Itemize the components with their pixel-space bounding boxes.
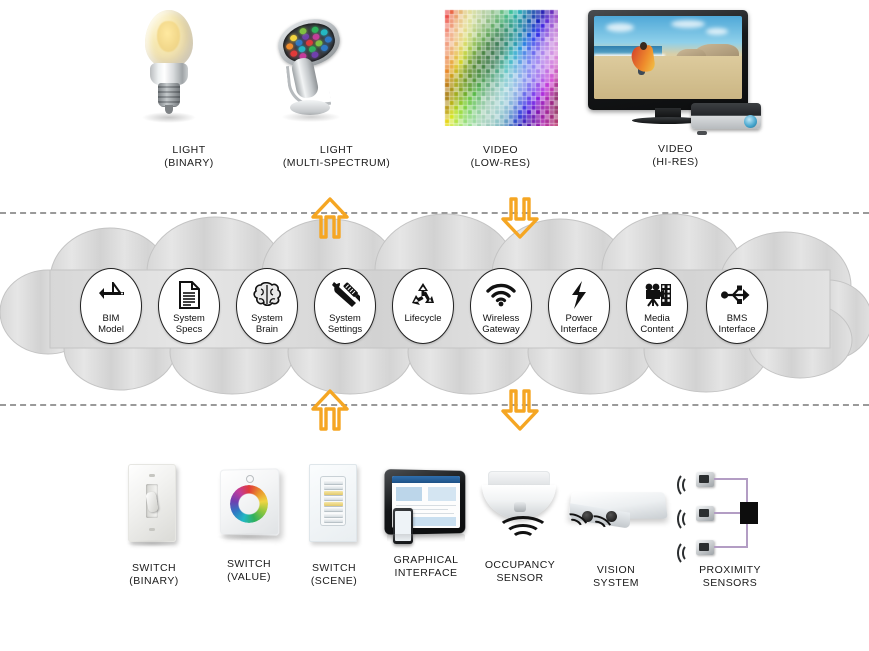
caption-line-1: OCCUPANCY bbox=[485, 559, 555, 571]
device-caption: LIGHT (BINARY) bbox=[134, 144, 244, 170]
device-light-binary[interactable]: LIGHT (BINARY) bbox=[134, 8, 244, 170]
projector-icon bbox=[691, 99, 763, 135]
occupancy-sensor-icon bbox=[472, 465, 568, 553]
cloud-node-label-line-1: Wireless bbox=[482, 314, 520, 325]
cloud-node-label-line-2: Interface bbox=[561, 325, 598, 336]
scene-keypad-icon bbox=[306, 462, 362, 546]
arrow-up-icon-bottom[interactable] bbox=[310, 388, 350, 437]
caption-line-2: (BINARY) bbox=[134, 157, 244, 170]
caption-line-2: (SCENE) bbox=[306, 575, 362, 588]
device-proximity-sensors[interactable]: PROXIMITY SENSORS bbox=[672, 466, 788, 590]
device-light-multi-spectrum[interactable]: LIGHT (MULTI-SPECTRUM) bbox=[264, 8, 409, 170]
device-caption: VIDEO (LOW-RES) bbox=[443, 144, 558, 170]
cloud-band: BIMModelSystemSpecsSystemBrainSystemSett… bbox=[0, 200, 869, 415]
cloud-node-label-line-2: Gateway bbox=[482, 325, 520, 336]
device-caption: OCCUPANCY SENSOR bbox=[472, 559, 568, 585]
cloud-node-label-line-1: System bbox=[251, 314, 283, 325]
cloud-node-label: BMSInterface bbox=[719, 314, 756, 335]
caption-line-1: PROXIMITY bbox=[699, 564, 761, 576]
cloud-node-label-line-2: Brain bbox=[251, 325, 283, 336]
cloud-node-label-line-1: BMS bbox=[719, 314, 756, 325]
arrow-up-icon-top[interactable] bbox=[310, 196, 350, 245]
cloud-node-label: WirelessGateway bbox=[482, 314, 520, 335]
caption-line-2: SYSTEM bbox=[556, 577, 676, 590]
device-occupancy-sensor[interactable]: OCCUPANCY SENSOR bbox=[472, 465, 568, 585]
cloud-node-power-interface[interactable]: PowerInterface bbox=[548, 268, 610, 344]
caption-line-1: SWITCH bbox=[132, 562, 176, 574]
caption-line-2: (BINARY) bbox=[124, 575, 184, 588]
cloud-node-label-line-2: Specs bbox=[173, 325, 205, 336]
outputs-row: LIGHT (BINARY) LIGHT (MULTI-SPECTRUM) bbox=[0, 8, 869, 183]
caption-line-2: (HI-RES) bbox=[588, 156, 763, 169]
device-switch-binary[interactable]: SWITCH (BINARY) bbox=[124, 462, 184, 588]
caption-line-1: SWITCH bbox=[227, 558, 271, 570]
cloud-node-system-brain[interactable]: SystemBrain bbox=[236, 268, 298, 344]
brain-icon bbox=[252, 278, 282, 312]
device-caption: PROXIMITY SENSORS bbox=[672, 564, 788, 590]
cloud-node-bim-model[interactable]: BIMModel bbox=[80, 268, 142, 344]
device-caption: LIGHT (MULTI-SPECTRUM) bbox=[264, 144, 409, 170]
cloud-node-label-line-2: Settings bbox=[328, 325, 362, 336]
arrow-down-icon-top[interactable] bbox=[500, 196, 540, 245]
arrow-down-icon-bottom[interactable] bbox=[500, 388, 540, 437]
television-icon bbox=[588, 10, 763, 135]
lightning-bolt-icon bbox=[569, 278, 589, 312]
usb-icon bbox=[721, 278, 753, 312]
cloud-node-label: PowerInterface bbox=[561, 314, 598, 335]
cloud-node-label: MediaContent bbox=[640, 314, 673, 335]
cloud-node-label: SystemSpecs bbox=[173, 314, 205, 335]
cloud-node-lifecycle[interactable]: Lifecycle bbox=[392, 268, 454, 344]
device-caption: VIDEO (HI-RES) bbox=[588, 143, 763, 169]
device-video-hi-res[interactable]: VIDEO (HI-RES) bbox=[588, 10, 763, 169]
cloud-node-media-content[interactable]: MediaContent bbox=[626, 268, 688, 344]
top-dashed-divider bbox=[0, 212, 869, 214]
inputs-row: SWITCH (BINARY) SWITCH (VALUE) bbox=[0, 462, 869, 612]
color-wheel-switch-icon bbox=[213, 465, 285, 545]
caption-line-1: VISION bbox=[597, 564, 635, 576]
bottom-dashed-divider bbox=[0, 404, 869, 406]
device-vision-system[interactable]: VISION SYSTEM bbox=[556, 478, 676, 590]
wifi-icon bbox=[485, 278, 517, 312]
diagram-canvas: LIGHT (BINARY) LIGHT (MULTI-SPECTRUM) bbox=[0, 0, 869, 651]
cloud-node-label-line-1: System bbox=[173, 314, 205, 325]
cloud-node-system-settings[interactable]: SystemSettings bbox=[314, 268, 376, 344]
recycle-icon bbox=[409, 278, 437, 312]
film-camera-icon bbox=[642, 278, 672, 312]
cloud-node-label-line-2: Interface bbox=[719, 325, 756, 336]
cloud-node-bms-interface[interactable]: BMSInterface bbox=[706, 268, 768, 344]
cloud-node-label: SystemBrain bbox=[251, 314, 283, 335]
cloud-node-label: Lifecycle bbox=[405, 314, 442, 325]
device-caption: VISION SYSTEM bbox=[556, 564, 676, 590]
tablet-phone-icon bbox=[379, 470, 473, 546]
cloud-node-label-line-1: BIM bbox=[98, 314, 124, 325]
caption-line-2: SENSOR bbox=[472, 572, 568, 585]
vision-system-icon bbox=[556, 478, 676, 552]
proximity-sensor-icon bbox=[672, 466, 788, 558]
caption-line-2: INTERFACE bbox=[379, 567, 473, 580]
cloud-node-label-line-2: Content bbox=[640, 325, 673, 336]
caption-line-2: SENSORS bbox=[672, 577, 788, 590]
caption-line-1: LIGHT bbox=[320, 144, 353, 156]
device-caption: SWITCH (SCENE) bbox=[306, 562, 362, 588]
pixel-grid-icon bbox=[443, 8, 558, 126]
device-switch-scene[interactable]: SWITCH (SCENE) bbox=[306, 462, 362, 588]
light-bulb-icon bbox=[134, 8, 244, 128]
caption-line-1: LIGHT bbox=[172, 144, 205, 156]
caption-line-1: GRAPHICAL bbox=[394, 554, 459, 566]
toggle-switch-icon bbox=[124, 462, 184, 548]
device-switch-value[interactable]: SWITCH (VALUE) bbox=[213, 465, 285, 584]
cloud-node-label-line-1: System bbox=[328, 314, 362, 325]
cloud-node-wireless-gateway[interactable]: WirelessGateway bbox=[470, 268, 532, 344]
cloud-node-label-line-2: Model bbox=[98, 325, 124, 336]
cloud-node-label: SystemSettings bbox=[328, 314, 362, 335]
caption-line-1: VIDEO bbox=[483, 144, 518, 156]
caption-line-1: SWITCH bbox=[312, 562, 356, 574]
device-graphical-interface[interactable]: GRAPHICAL INTERFACE bbox=[379, 470, 473, 580]
caption-line-1: VIDEO bbox=[658, 143, 693, 155]
wrench-tools-icon bbox=[330, 278, 360, 312]
cloud-node-label-line-1: Lifecycle bbox=[405, 314, 442, 325]
device-caption: SWITCH (BINARY) bbox=[124, 562, 184, 588]
rgb-spotlight-icon bbox=[264, 8, 409, 128]
cloud-node-system-specs[interactable]: SystemSpecs bbox=[158, 268, 220, 344]
device-caption: GRAPHICAL INTERFACE bbox=[379, 554, 473, 580]
device-video-low-res[interactable]: VIDEO (LOW-RES) bbox=[443, 8, 558, 170]
cloud-node-label-line-1: Media bbox=[640, 314, 673, 325]
device-caption: SWITCH (VALUE) bbox=[213, 558, 285, 584]
document-icon bbox=[177, 278, 201, 312]
caption-line-2: (LOW-RES) bbox=[443, 157, 558, 170]
caption-line-2: (MULTI-SPECTRUM) bbox=[264, 157, 409, 170]
caption-line-2: (VALUE) bbox=[213, 571, 285, 584]
drafting-square-icon bbox=[96, 278, 126, 312]
cloud-node-label: BIMModel bbox=[98, 314, 124, 335]
cloud-node-label-line-1: Power bbox=[561, 314, 598, 325]
